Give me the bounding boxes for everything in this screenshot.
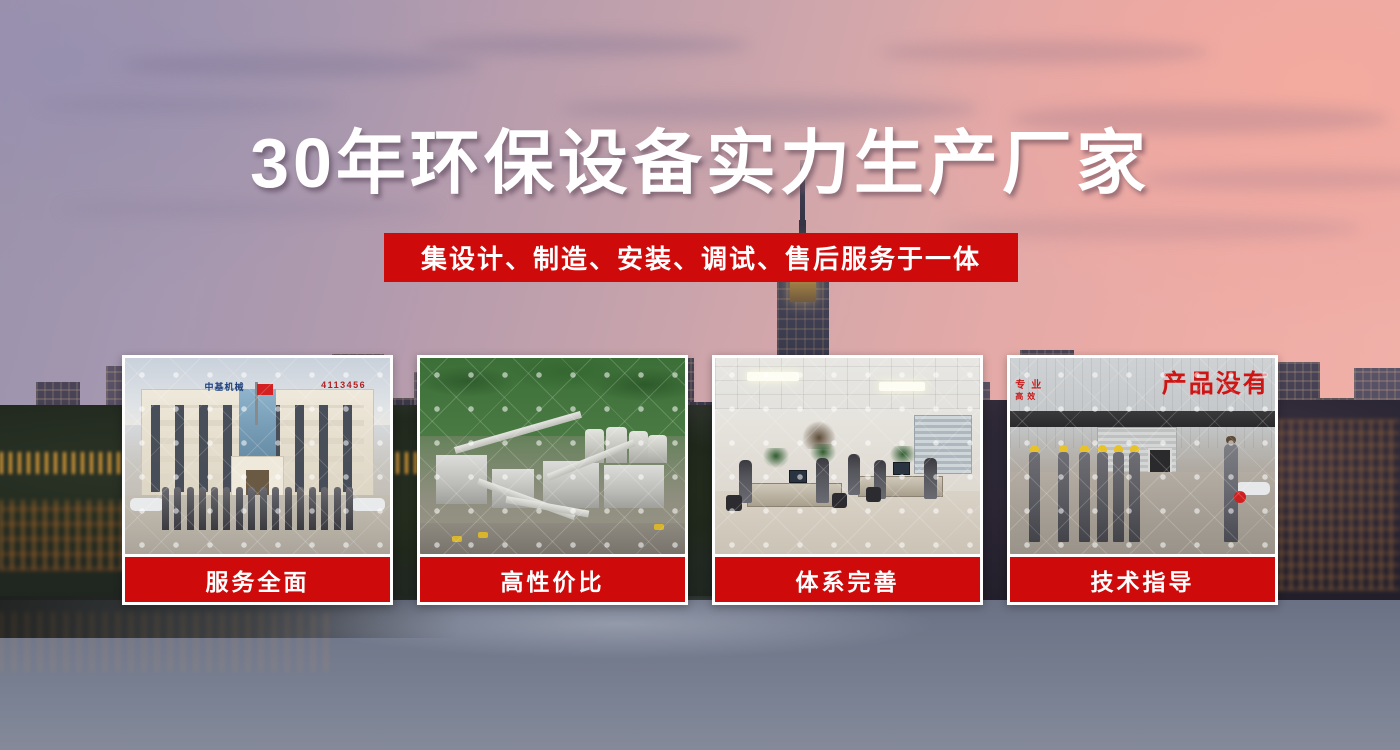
cloud xyxy=(880,40,1210,64)
feature-card[interactable]: 产品没有 专业 高效 xyxy=(1007,355,1278,605)
photo-worker xyxy=(1097,452,1108,542)
photo-monitor xyxy=(789,470,807,483)
photo-red-helmet xyxy=(1234,491,1246,503)
photo-office-building: 中基机械 4113456 xyxy=(125,358,390,554)
photo-factory-slogan-small-2: 高效 xyxy=(1015,391,1039,402)
photo-ceiling xyxy=(715,358,980,409)
photo-plant-building xyxy=(604,465,665,508)
photo-car xyxy=(130,498,164,511)
cloud xyxy=(420,34,750,56)
photo-monitor xyxy=(893,462,910,475)
card-caption-bar: 服务全面 xyxy=(125,557,390,602)
photo-worker xyxy=(1113,452,1124,542)
photo-factory-yard: 产品没有 专业 高效 xyxy=(1010,358,1275,554)
photo-factory-slogan-small-1: 专业 xyxy=(1015,376,1047,391)
photo-ceiling-lamp xyxy=(747,372,799,381)
card-caption-bar: 体系完善 xyxy=(715,557,980,602)
photo-wall-dark-band xyxy=(1010,411,1275,427)
banner-stage: 30年环保设备实力生产厂家 集设计、制造、安装、调试、售后服务于一体 中基机械 … xyxy=(0,0,1400,750)
photo-person xyxy=(848,454,860,495)
photo-person xyxy=(924,458,937,499)
subtitle-text: 集设计、制造、安装、调试、售后服务于一体 xyxy=(421,239,981,276)
photo-worker xyxy=(1129,452,1140,542)
water-light-reflections xyxy=(0,612,330,672)
card-caption-bar: 高性价比 xyxy=(420,557,685,602)
card-caption-text: 体系完善 xyxy=(796,563,900,597)
cloud xyxy=(40,96,340,114)
photo-chair xyxy=(726,495,742,511)
card-photo-factory-workers: 产品没有 专业 高效 xyxy=(1010,358,1275,554)
feature-card[interactable]: 中基机械 4113456 服务全面 xyxy=(122,355,393,605)
water-mist xyxy=(300,596,1100,666)
photo-phone-number: 4113456 xyxy=(321,380,366,390)
photo-silo xyxy=(648,435,667,464)
photo-staff-row xyxy=(162,487,353,530)
photo-company-sign: 中基机械 xyxy=(205,380,245,393)
card-caption-text: 服务全面 xyxy=(206,563,310,597)
cloud xyxy=(560,96,980,122)
card-photo-office-interior xyxy=(715,358,980,554)
photo-potted-plant xyxy=(763,448,789,468)
photo-worker xyxy=(1079,452,1090,542)
page-title: 30年环保设备实力生产厂家 xyxy=(0,128,1400,198)
photo-excavator xyxy=(452,536,462,542)
cloud xyxy=(120,52,480,78)
card-photo-office-building: 中基机械 4113456 xyxy=(125,358,390,554)
subtitle-banner: 集设计、制造、安装、调试、售后服务于一体 xyxy=(384,233,1018,282)
photo-person xyxy=(816,458,829,503)
card-caption-text: 技术指导 xyxy=(1091,563,1195,597)
photo-aerial-plant xyxy=(420,358,685,554)
photo-plant-structures xyxy=(436,425,669,527)
feature-cards-row: 中基机械 4113456 服务全面 xyxy=(122,355,1278,605)
photo-factory-slogan-large: 产品没有 xyxy=(1162,364,1270,400)
feature-card[interactable]: 体系完善 xyxy=(712,355,983,605)
photo-worker xyxy=(1058,452,1069,542)
photo-worker xyxy=(1029,452,1040,542)
photo-excavator xyxy=(478,532,488,538)
photo-ceiling-lamp xyxy=(879,382,925,391)
feature-card[interactable]: 高性价比 xyxy=(417,355,688,605)
photo-car xyxy=(351,498,385,511)
photo-window-blinds xyxy=(914,415,972,474)
card-caption-bar: 技术指导 xyxy=(1010,557,1275,602)
card-photo-industrial-plant xyxy=(420,358,685,554)
photo-chair xyxy=(866,487,881,502)
photo-office-interior xyxy=(715,358,980,554)
photo-flagpole xyxy=(255,382,258,425)
card-caption-text: 高性价比 xyxy=(501,563,605,597)
cloud xyxy=(60,200,440,218)
photo-excavator xyxy=(654,524,664,530)
photo-chair xyxy=(832,493,847,508)
